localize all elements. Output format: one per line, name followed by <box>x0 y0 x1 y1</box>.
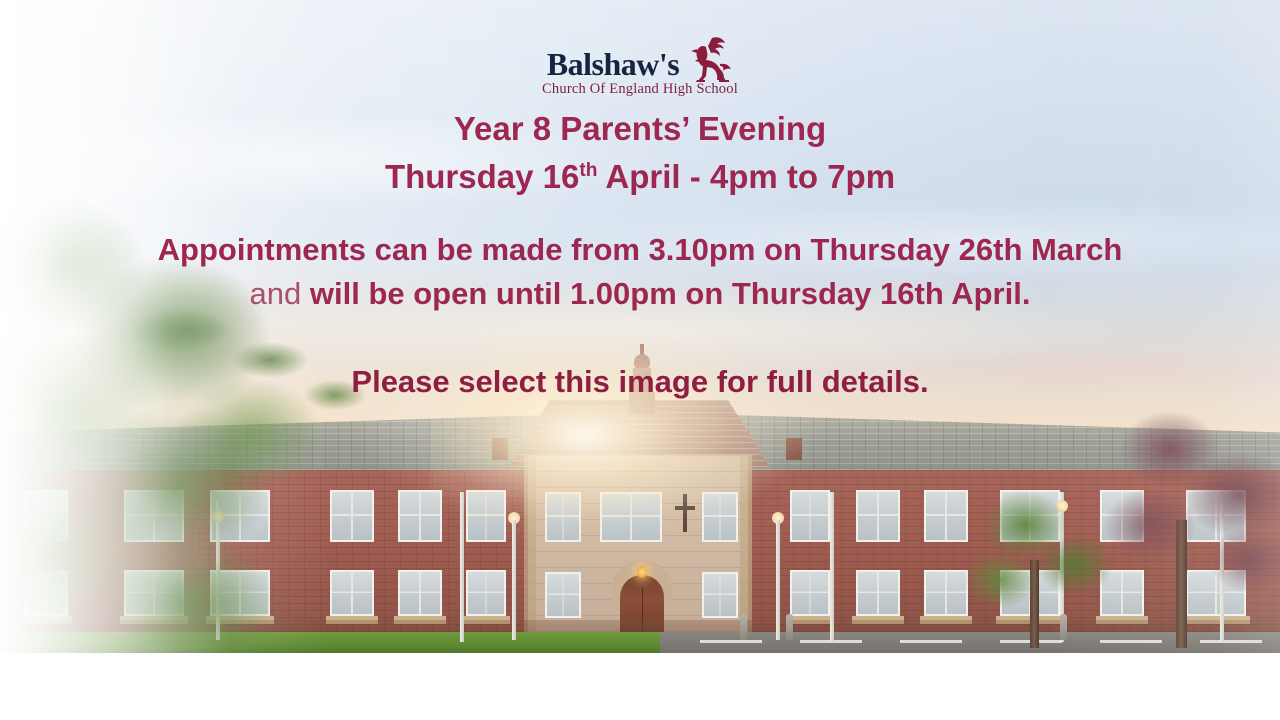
headline-line-1: Year 8 Parents’ Evening <box>0 110 1280 148</box>
body-line-2-soft: and <box>250 276 310 311</box>
school-logo[interactable]: Balshaw's <box>0 34 1280 98</box>
text-overlay: Balshaw's <box>0 0 1280 720</box>
body-line-2: and will be open until 1.00pm on Thursda… <box>0 276 1280 313</box>
headline-date-prefix: Thursday 16 <box>385 158 579 195</box>
slide-canvas: Balshaw's <box>0 0 1280 720</box>
body-line-1: Appointments can be made from 3.10pm on … <box>0 232 1280 269</box>
cta-text[interactable]: Please select this image for full detail… <box>0 364 1280 400</box>
griffin-crest-icon <box>681 34 733 86</box>
headline-line-2: Thursday 16th April - 4pm to 7pm <box>0 158 1280 196</box>
headline-date-suffix: April - 4pm to 7pm <box>597 158 895 195</box>
logo-subtitle: Church Of England High School <box>542 81 738 98</box>
body-line-2-bold: will be open until 1.00pm on Thursday 16… <box>310 276 1031 311</box>
headline-date-ordinal: th <box>579 160 597 181</box>
logo-wordmark: Balshaw's <box>547 48 679 80</box>
